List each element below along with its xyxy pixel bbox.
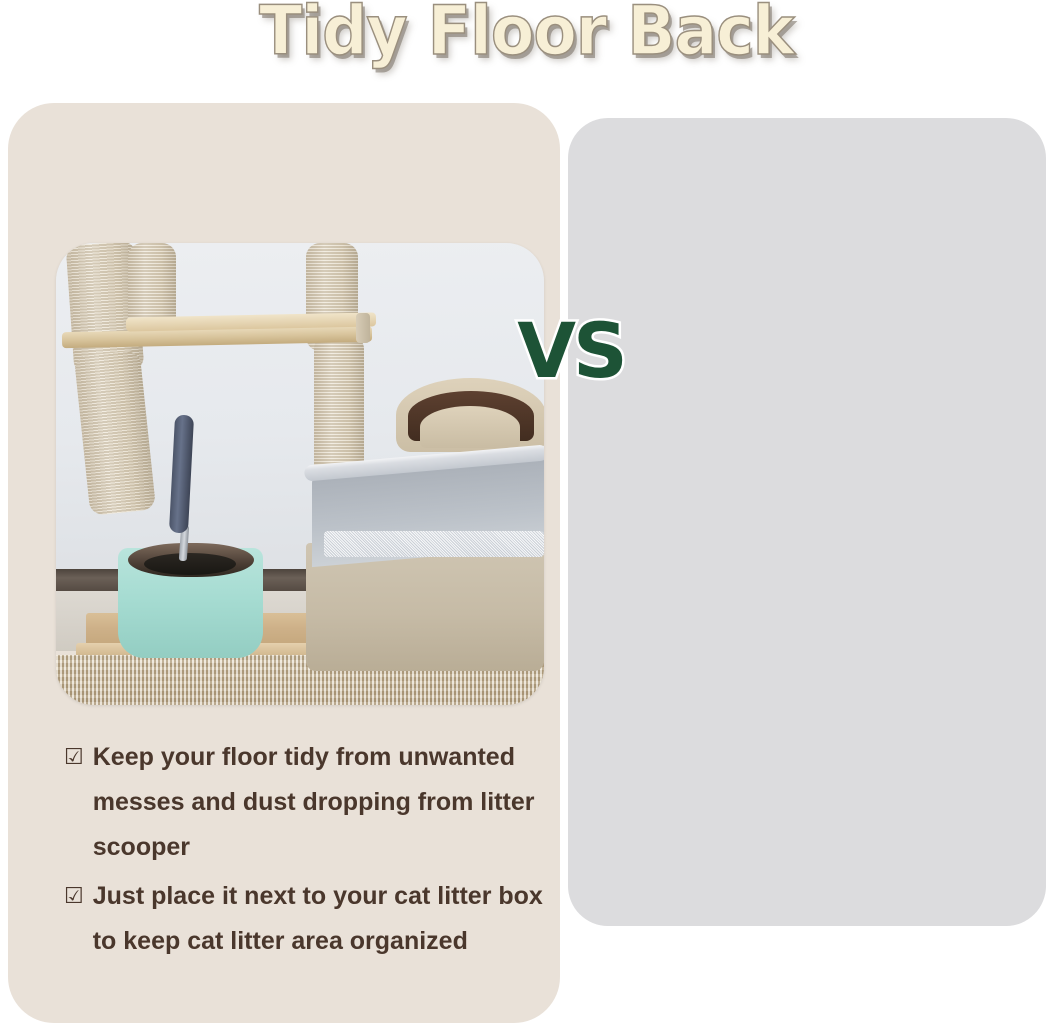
title-bar: Tidy Floor Back (0, 0, 1053, 70)
cons-panel: ☒ Nowhere to place the scoop after using… (568, 118, 1046, 926)
scooped-litter (144, 553, 236, 575)
list-item-label: Just place it next to your cat litter bo… (93, 874, 544, 964)
pros-panel: ☑ Keep your floor tidy from unwanted mes… (8, 103, 560, 1023)
list-item: ☑ Keep your floor tidy from unwanted mes… (64, 735, 544, 870)
pros-photo (56, 243, 544, 705)
cat-tree-dowel (356, 313, 370, 343)
pros-bullet-list: ☑ Keep your floor tidy from unwanted mes… (64, 735, 544, 968)
list-item: ☑ Just place it next to your cat litter … (64, 874, 544, 964)
checkbox-checked-icon: ☑ (64, 874, 84, 919)
page-title: Tidy Floor Back (259, 0, 794, 72)
checkbox-checked-icon: ☑ (64, 735, 84, 780)
litter-sand (324, 531, 544, 557)
vs-badge: VS (512, 306, 630, 396)
pros-photo-scene (56, 243, 544, 705)
list-item-label: Keep your floor tidy from unwanted messe… (93, 735, 544, 870)
cardboard-lounger-inner (420, 406, 520, 448)
